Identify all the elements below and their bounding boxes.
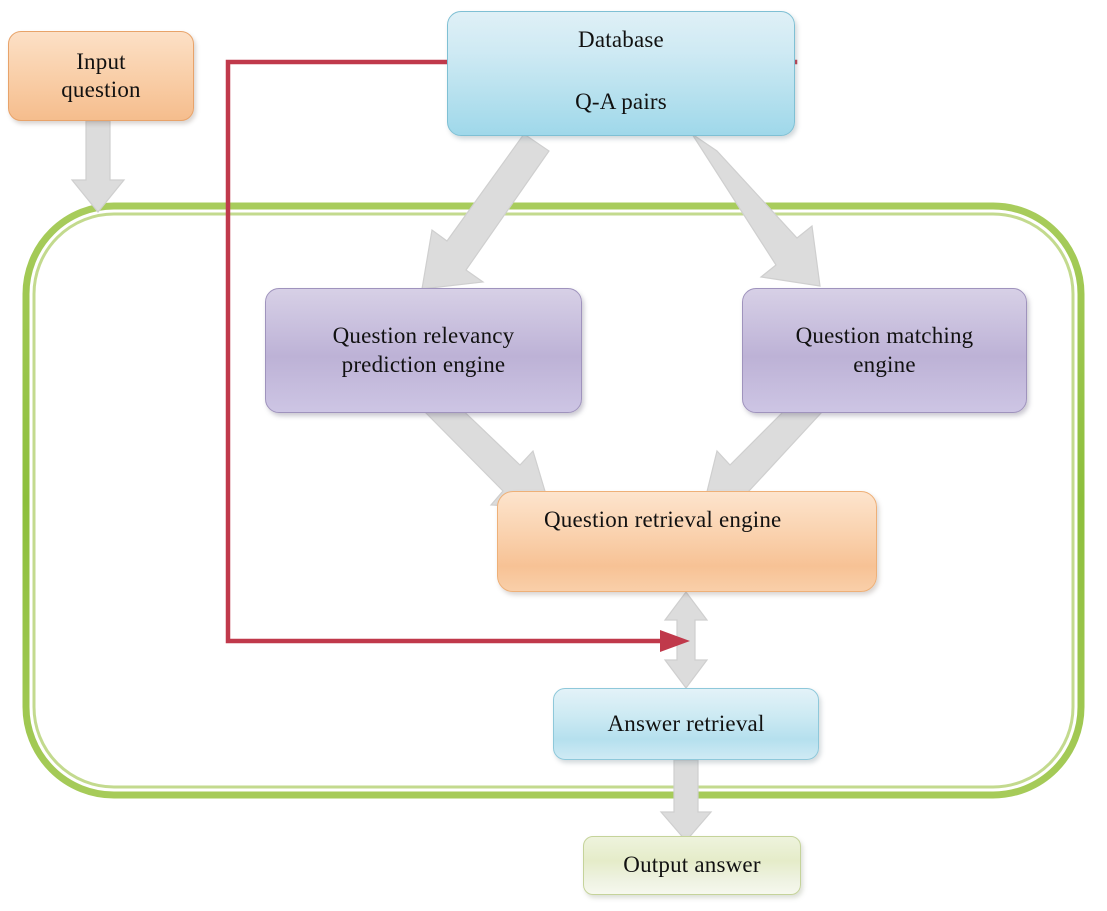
connector-layer [0, 0, 1107, 911]
node-input-question[interactable]: Inputquestion [8, 31, 194, 121]
input-question-label: Inputquestion [45, 48, 157, 104]
matching-engine-label: Question matchingengine [780, 322, 990, 378]
database-title-row: Database [448, 12, 794, 69]
node-question-relevancy-prediction-engine[interactable]: Question relevancyprediction engine [265, 288, 582, 413]
database-subtitle: Q-A pairs [567, 88, 675, 116]
relevancy-engine-line2: prediction engine [325, 351, 523, 379]
arrow-database-to-matching-engine [692, 134, 820, 286]
output-answer-label: Output answer [615, 851, 768, 879]
answer-retrieval-label: Answer retrieval [599, 710, 772, 738]
input-question-line2: question [53, 76, 149, 104]
retrieval-engine-label: Question retrieval engine [536, 506, 789, 534]
node-database[interactable]: Database Q-A pairs [447, 11, 795, 136]
node-question-matching-engine[interactable]: Question matchingengine [742, 288, 1027, 413]
matching-engine-line2: engine [788, 351, 982, 379]
database-title: Database [570, 26, 672, 54]
diagram-canvas: Inputquestion Database Q-A pairs Questio… [0, 0, 1107, 911]
relevancy-engine-line1: Question relevancy [325, 322, 523, 350]
node-answer-retrieval[interactable]: Answer retrieval [553, 688, 819, 760]
database-subtitle-row: Q-A pairs [448, 69, 794, 135]
matching-engine-line1: Question matching [788, 322, 982, 350]
arrow-database-to-relevancy-engine [422, 134, 549, 289]
arrow-answer-to-output [661, 760, 711, 841]
arrow-input-to-system [72, 121, 124, 212]
relevancy-engine-label: Question relevancyprediction engine [317, 322, 531, 378]
node-question-retrieval-engine[interactable]: Question retrieval engine [497, 491, 877, 592]
node-output-answer[interactable]: Output answer [583, 836, 801, 895]
input-question-line1: Input [53, 48, 149, 76]
